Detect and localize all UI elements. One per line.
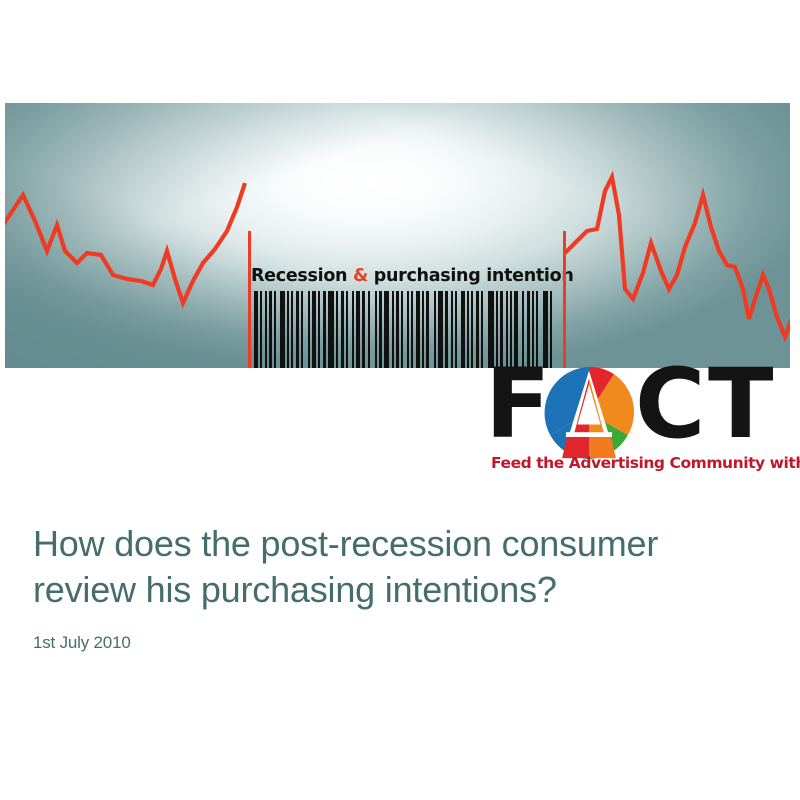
barcode-bar [379,291,382,368]
barcode-title-before: Recession [251,266,353,286]
barcode-bar [467,291,469,368]
barcode-bar [308,291,310,368]
fact-tagline: Feed the Advertising Community with Tren… [491,454,794,472]
barcode-bar [396,291,399,368]
barcode-red-edge-left [248,231,251,368]
barcode-title-ampersand: & [353,266,368,286]
barcode-bar [280,291,285,368]
trend-line-left-path [5,183,245,303]
barcode-bar [438,291,443,368]
barcode-bar [328,291,334,368]
barcode-bar [368,291,370,368]
barcode-bar [260,291,262,368]
barcode-bar [411,291,413,368]
fact-logo: F C T Feed the Advertising Commu [489,368,794,480]
barcode-bar [291,291,293,368]
barcode-bar [341,291,344,368]
barcode-bar [481,291,483,368]
fact-letter-f: F [485,356,547,452]
barcode-bar [461,291,465,368]
barcode-bar [269,291,272,368]
recession-banner: Recession & purchasing intention [5,103,790,368]
trend-line-right-path [565,177,790,337]
barcode-bar [301,291,303,368]
barcode-bar [426,291,429,368]
barcode-bar [422,291,424,368]
barcode-bar [323,291,326,368]
barcode-bar [318,291,320,368]
headline-block: How does the post-recession consumer rev… [33,521,763,653]
barcode-red-edge-right [563,231,566,368]
fact-letter-t: T [708,356,769,452]
barcode-bar [274,291,276,368]
barcode-bar [416,291,420,368]
barcode-bar [392,291,394,368]
barcode-bar [471,291,473,368]
barcode-bar [401,291,403,368]
barcode-bar [407,291,409,368]
barcode-bar [434,291,436,368]
barcode-bar [362,291,365,368]
barcode-bar [287,291,289,368]
barcode-bar [312,291,316,368]
barcode-bar [550,291,552,368]
barcode-bar [336,291,338,368]
barcode-bar [476,291,479,368]
barcode-title: Recession & purchasing intention [248,268,577,286]
barcode-bar [384,291,389,368]
page-date: 1st July 2010 [33,633,763,653]
fact-wordmark: F C T [489,368,794,456]
page-title: How does the post-recession consumer rev… [33,521,763,613]
barcode-bar [445,291,448,368]
barcode-bar [356,291,360,368]
barcode-bar [352,291,354,368]
barcode-bar [254,291,258,368]
barcode-bar [346,291,348,368]
barcode-bar [375,291,377,368]
barcode-bar [451,291,453,368]
barcode-bar [296,291,299,368]
barcode-bar [265,291,267,368]
barcode-title-after: purchasing intention [368,266,574,286]
fact-letter-c: C [635,356,701,452]
barcode-label-row: Recession & purchasing intention [248,261,566,293]
barcode-bar [455,291,457,368]
fact-a-mark-icon [541,365,637,461]
